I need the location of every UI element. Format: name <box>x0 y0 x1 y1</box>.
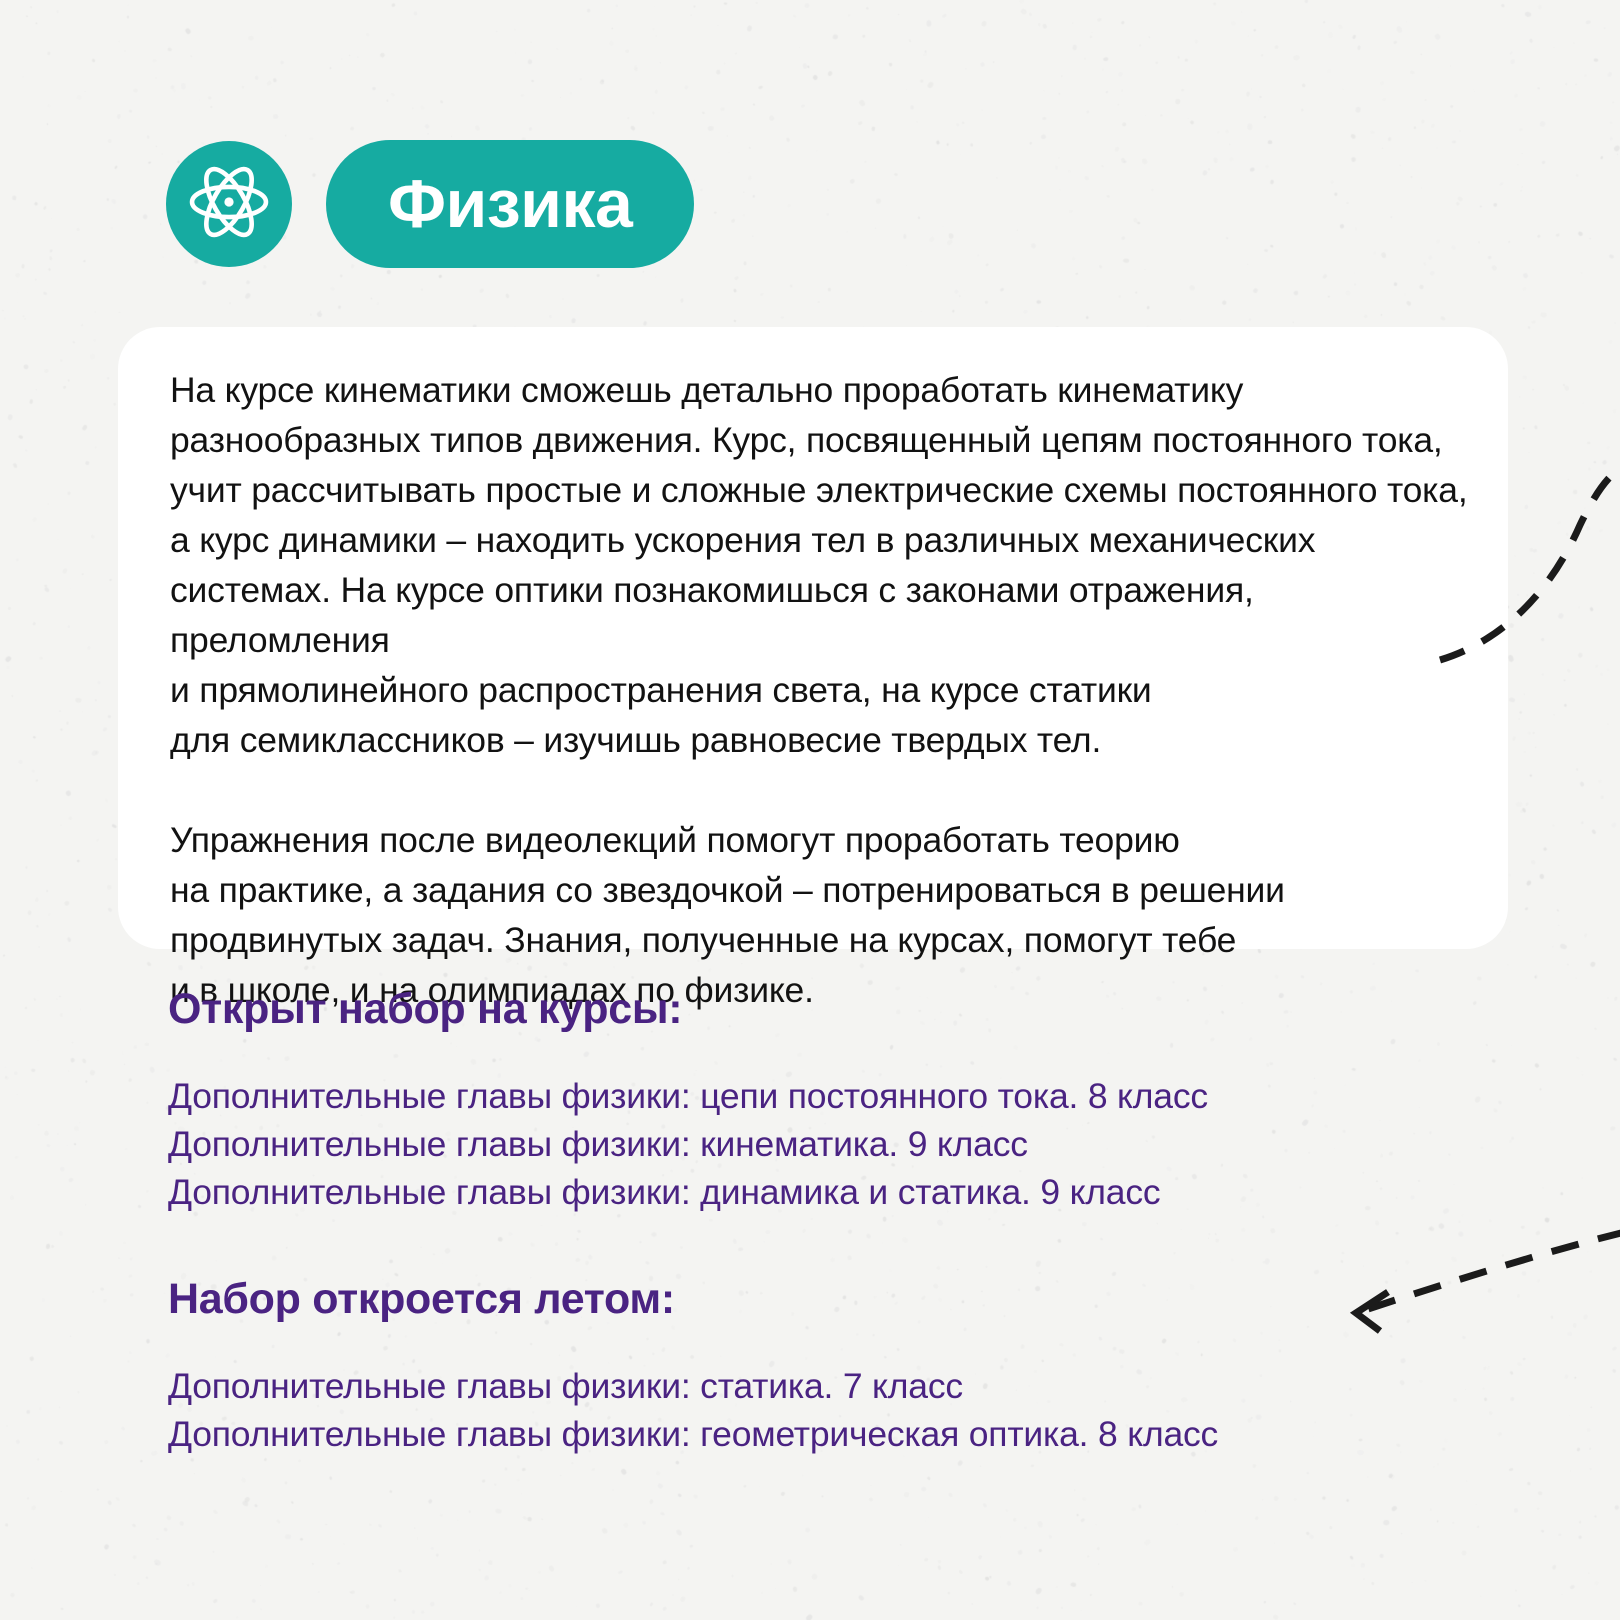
subject-header: Физика <box>166 140 694 268</box>
description-card: На курсе кинематики сможешь детально про… <box>118 327 1508 949</box>
course-list: Дополнительные главы физики: цепи постоя… <box>168 1072 1560 1216</box>
course-list-item[interactable]: Дополнительные главы физики: цепи постоя… <box>168 1072 1560 1120</box>
subject-icon-badge <box>166 141 292 267</box>
section-heading: Открыт набор на курсы: <box>168 985 1560 1034</box>
section-open-enrollment: Открыт набор на курсы: Дополнительные гл… <box>168 985 1560 1216</box>
subject-title-pill: Физика <box>326 140 694 268</box>
description-paragraph: На курсе кинематики сможешь детально про… <box>170 365 1468 765</box>
course-list-item[interactable]: Дополнительные главы физики: динамика и … <box>168 1168 1560 1216</box>
course-list-item[interactable]: Дополнительные главы физики: кинематика.… <box>168 1120 1560 1168</box>
subject-title: Физика <box>388 170 632 238</box>
section-heading: Набор откроется летом: <box>168 1275 1560 1324</box>
description-card-body: На курсе кинематики сможешь детально про… <box>170 365 1468 1015</box>
promo-page: Физика На курсе кинематики сможешь детал… <box>0 0 1620 1620</box>
section-summer-enrollment: Набор откроется летом: Дополнительные гл… <box>168 1275 1560 1458</box>
course-list-item[interactable]: Дополнительные главы физики: статика. 7 … <box>168 1362 1560 1410</box>
course-list-item[interactable]: Дополнительные главы физики: геометричес… <box>168 1410 1560 1458</box>
atom-icon <box>187 160 271 249</box>
course-list: Дополнительные главы физики: статика. 7 … <box>168 1362 1560 1458</box>
